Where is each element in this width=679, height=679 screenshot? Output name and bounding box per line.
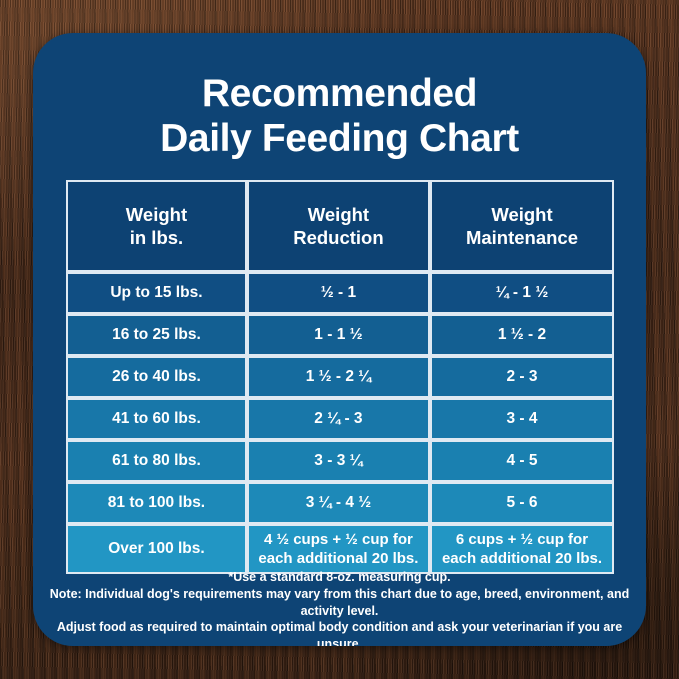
table-header-row: Weight in lbs. Weight Reduction Weight M… xyxy=(66,180,614,272)
page-title: Recommended Daily Feeding Chart xyxy=(33,71,646,161)
footnote-note-line-2: Adjust food as required to maintain opti… xyxy=(45,619,634,646)
title-line-2: Daily Feeding Chart xyxy=(59,116,620,161)
header-weight-lbs-line1: Weight xyxy=(68,203,245,226)
table-row: 16 to 25 lbs. 1 - 1 ½ 1 ½ - 2 xyxy=(66,314,614,356)
table-header: Weight in lbs. Weight Reduction Weight M… xyxy=(66,180,614,272)
cell-maintenance-line1: 6 cups + ½ cup for xyxy=(432,530,612,549)
header-weight-maintenance: Weight Maintenance xyxy=(430,180,614,272)
header-weight-reduction: Weight Reduction xyxy=(247,180,430,272)
header-weight-maintenance-line1: Weight xyxy=(432,203,612,226)
cell-reduction: 1 - 1 ½ xyxy=(247,314,430,356)
header-weight-maintenance-line2: Maintenance xyxy=(432,226,612,249)
table-row: 26 to 40 lbs. 1 ½ - 2 ¼ 2 - 3 xyxy=(66,356,614,398)
feeding-table: Weight in lbs. Weight Reduction Weight M… xyxy=(66,180,614,574)
cell-maintenance: 1 ½ - 2 xyxy=(430,314,614,356)
cell-maintenance: 4 - 5 xyxy=(430,440,614,482)
header-weight-reduction-line1: Weight xyxy=(249,203,428,226)
title-line-1: Recommended xyxy=(59,71,620,116)
table-row: 41 to 60 lbs. 2 ¼ - 3 3 - 4 xyxy=(66,398,614,440)
cell-reduction: ½ - 1 xyxy=(247,272,430,314)
cell-weight: 61 to 80 lbs. xyxy=(66,440,247,482)
cell-reduction: 3 - 3 ¼ xyxy=(247,440,430,482)
cell-reduction: 4 ½ cups + ½ cup for each additional 20 … xyxy=(247,524,430,574)
table-row: Up to 15 lbs. ½ - 1 ¼ - 1 ½ xyxy=(66,272,614,314)
cell-maintenance: 6 cups + ½ cup for each additional 20 lb… xyxy=(430,524,614,574)
cell-maintenance: 5 - 6 xyxy=(430,482,614,524)
cell-reduction: 3 ¼ - 4 ½ xyxy=(247,482,430,524)
table-body: Up to 15 lbs. ½ - 1 ¼ - 1 ½ 16 to 25 lbs… xyxy=(66,272,614,574)
feeding-chart-card: Recommended Daily Feeding Chart Weight i… xyxy=(33,33,646,646)
footnote-measuring-cup: *Use a standard 8-oz. measuring cup. xyxy=(45,569,634,586)
cell-weight: 81 to 100 lbs. xyxy=(66,482,247,524)
footnote-note-line-1: Note: Individual dog's requirements may … xyxy=(45,586,634,619)
cell-maintenance: 2 - 3 xyxy=(430,356,614,398)
cell-reduction-line1: 4 ½ cups + ½ cup for xyxy=(249,530,428,549)
footnotes: *Use a standard 8-oz. measuring cup. Not… xyxy=(45,569,634,646)
cell-maintenance: ¼ - 1 ½ xyxy=(430,272,614,314)
table-row-over-100: Over 100 lbs. 4 ½ cups + ½ cup for each … xyxy=(66,524,614,574)
table-row: 81 to 100 lbs. 3 ¼ - 4 ½ 5 - 6 xyxy=(66,482,614,524)
cell-maintenance: 3 - 4 xyxy=(430,398,614,440)
cell-reduction: 2 ¼ - 3 xyxy=(247,398,430,440)
cell-maintenance-line2: each additional 20 lbs. xyxy=(432,549,612,568)
cell-weight: 26 to 40 lbs. xyxy=(66,356,247,398)
table-row: 61 to 80 lbs. 3 - 3 ¼ 4 - 5 xyxy=(66,440,614,482)
cell-weight: 41 to 60 lbs. xyxy=(66,398,247,440)
cell-reduction: 1 ½ - 2 ¼ xyxy=(247,356,430,398)
cell-weight: 16 to 25 lbs. xyxy=(66,314,247,356)
header-weight-lbs: Weight in lbs. xyxy=(66,180,247,272)
header-weight-reduction-line2: Reduction xyxy=(249,226,428,249)
cell-weight: Over 100 lbs. xyxy=(66,524,247,574)
cell-reduction-line2: each additional 20 lbs. xyxy=(249,549,428,568)
cell-weight: Up to 15 lbs. xyxy=(66,272,247,314)
header-weight-lbs-line2: in lbs. xyxy=(68,226,245,249)
